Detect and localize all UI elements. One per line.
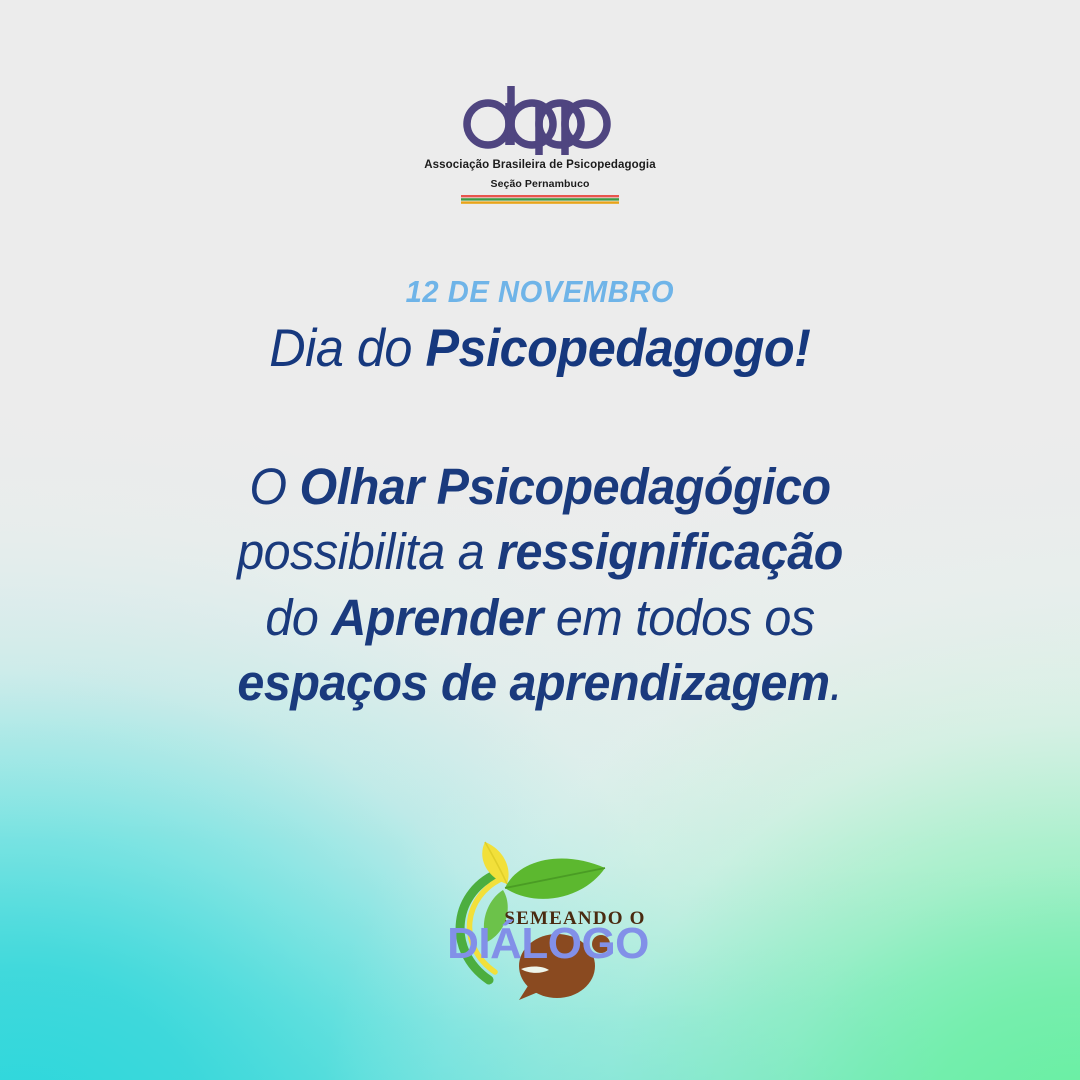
- semeando-line2: DIÁLOGO: [447, 918, 649, 968]
- body-copy-emphasis: espaços de aprendizagem: [237, 654, 829, 711]
- body-copy-line: espaços de aprendizagem.: [65, 650, 1015, 715]
- semeando-dialogo-logo: SEMEANDO O DIÁLOGO: [415, 838, 665, 1008]
- semeando-dialogo-logo-icon: SEMEANDO O DIÁLOGO: [415, 838, 665, 1008]
- body-copy: O Olhar Psicopedagógicopossibilita a res…: [65, 454, 1015, 715]
- abpp-logo: Associação Brasileira de Psicopedagogia …: [390, 84, 690, 204]
- abpp-wordmark-icon: [460, 84, 620, 156]
- poster-canvas: Associação Brasileira de Psicopedagogia …: [0, 0, 1080, 1080]
- headline-kicker: 12 DE NOVEMBRO: [406, 276, 675, 307]
- abpp-tricolor-bar-icon: [461, 195, 619, 204]
- body-copy-text: possibilita a: [237, 523, 497, 580]
- headline-title-light: Dia do: [269, 319, 425, 378]
- body-copy-emphasis: Aprender: [331, 589, 543, 646]
- body-copy-text: em todos os: [543, 589, 815, 646]
- body-copy-line: possibilita a ressignificação: [65, 519, 1015, 584]
- body-copy-emphasis: ressignificação: [497, 523, 843, 580]
- body-copy-text: do: [265, 589, 331, 646]
- abpp-association-name: Associação Brasileira de Psicopedagogia: [424, 159, 655, 171]
- abpp-section-name: Seção Pernambuco: [490, 178, 589, 190]
- headline-title-bold: Psicopedagogo!: [426, 319, 811, 378]
- headline-block: 12 DE NOVEMBRO Dia do Psicopedagogo!: [0, 276, 1080, 376]
- body-copy-line: O Olhar Psicopedagógico: [65, 454, 1015, 519]
- body-copy-text: O: [249, 458, 299, 515]
- headline-title: Dia do Psicopedagogo!: [269, 321, 810, 376]
- body-copy-line: do Aprender em todos os: [65, 585, 1015, 650]
- body-copy-text: .: [830, 654, 843, 711]
- body-copy-emphasis: Olhar Psicopedagógico: [300, 458, 831, 515]
